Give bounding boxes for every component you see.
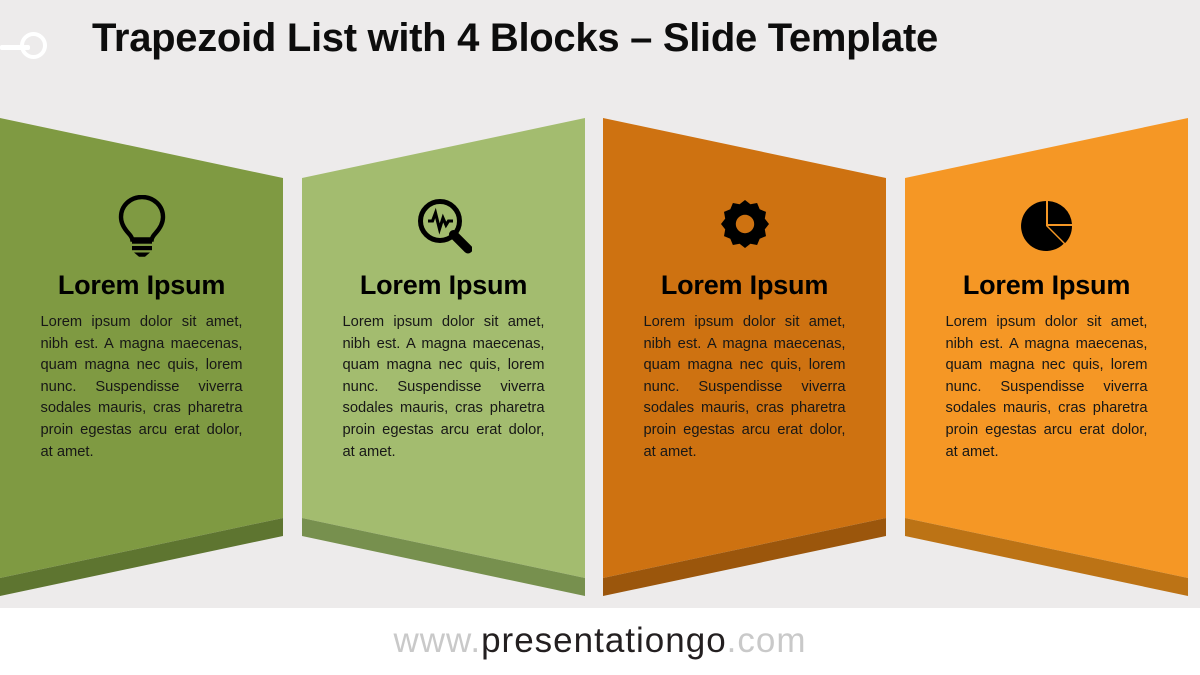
block-title-3: Lorem Ipsum: [603, 270, 886, 301]
trapezoid-block-list: Lorem Ipsum Lorem ipsum dolor sit amet, …: [0, 118, 1200, 598]
trapezoid-block-3[interactable]: Lorem Ipsum Lorem ipsum dolor sit amet, …: [603, 118, 886, 598]
trapezoid-block-2[interactable]: Lorem Ipsum Lorem ipsum dolor sit amet, …: [302, 118, 585, 598]
pie-chart-icon: [905, 190, 1188, 262]
block-content-1: Lorem Ipsum Lorem ipsum dolor sit amet, …: [0, 190, 283, 463]
block-body-4: Lorem ipsum dolor sit amet, nibh est. A …: [946, 312, 1148, 463]
ring-line-mark-icon: [0, 30, 60, 64]
logo-ring: [20, 32, 47, 59]
block-title-1: Lorem Ipsum: [0, 270, 283, 301]
footer-name: presentationgo: [481, 621, 727, 660]
lightbulb-icon: [0, 190, 283, 262]
block-content-2: Lorem Ipsum Lorem ipsum dolor sit amet, …: [302, 190, 585, 463]
block-content-4: Lorem Ipsum Lorem ipsum dolor sit amet, …: [905, 190, 1188, 463]
trapezoid-block-4[interactable]: Lorem Ipsum Lorem ipsum dolor sit amet, …: [905, 118, 1188, 598]
block-title-4: Lorem Ipsum: [905, 270, 1188, 301]
block-body-3: Lorem ipsum dolor sit amet, nibh est. A …: [644, 312, 846, 463]
page-title: Trapezoid List with 4 Blocks – Slide Tem…: [92, 16, 1152, 61]
block-title-2: Lorem Ipsum: [302, 270, 585, 301]
block-body-1: Lorem ipsum dolor sit amet, nibh est. A …: [41, 312, 243, 463]
slide-header: Trapezoid List with 4 Blocks – Slide Tem…: [0, 0, 1200, 108]
gear-icon: [603, 190, 886, 262]
block-body-2: Lorem ipsum dolor sit amet, nibh est. A …: [343, 312, 545, 463]
magnifier-pulse-icon: [302, 190, 585, 262]
footer-suffix: .com: [727, 621, 807, 660]
trapezoid-block-1[interactable]: Lorem Ipsum Lorem ipsum dolor sit amet, …: [0, 118, 283, 598]
footer-prefix: www.: [393, 621, 481, 660]
block-content-3: Lorem Ipsum Lorem ipsum dolor sit amet, …: [603, 190, 886, 463]
footer-website: www.presentationgo.com: [0, 621, 1200, 661]
